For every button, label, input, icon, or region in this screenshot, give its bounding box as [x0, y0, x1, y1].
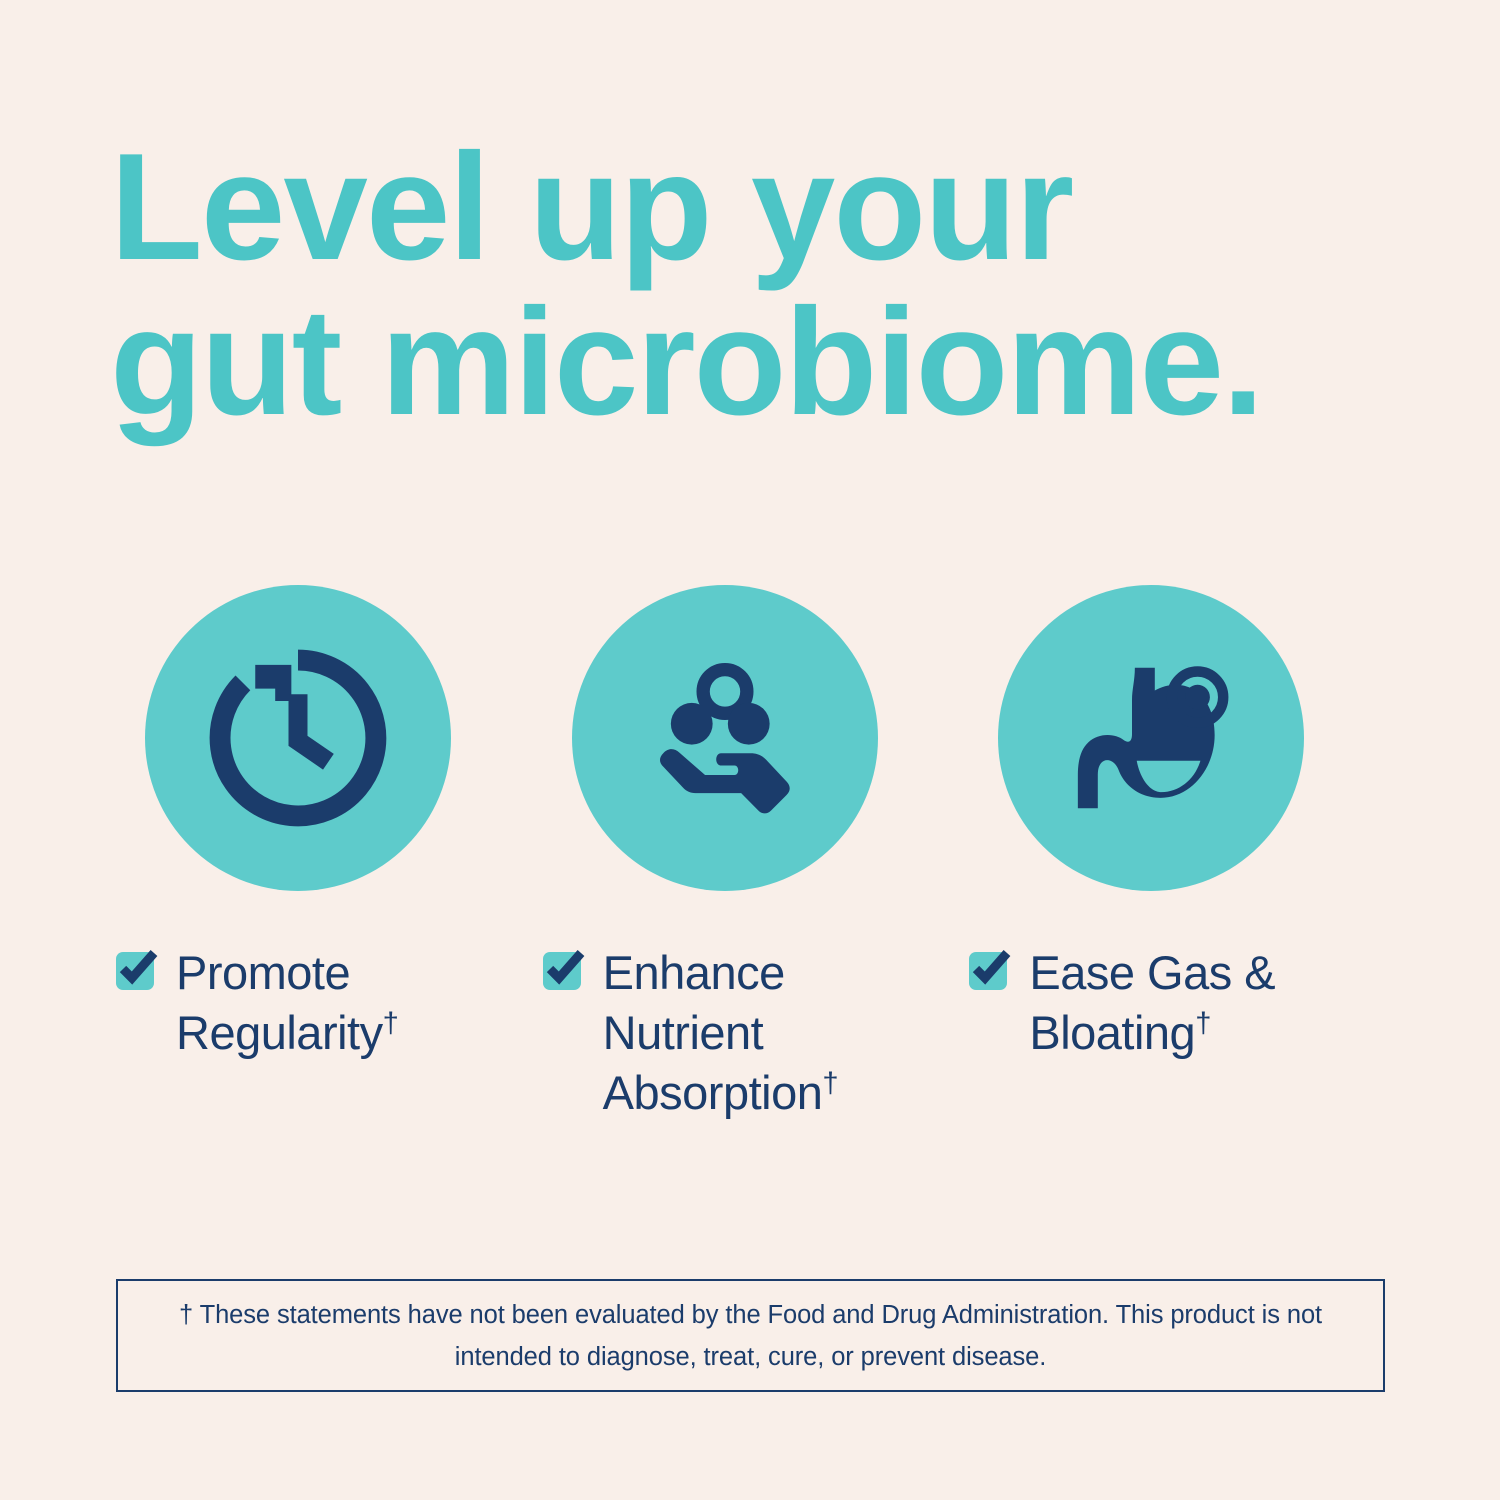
- benefit-label-text: Promote Regularity: [176, 946, 383, 1059]
- dagger-symbol: †: [383, 1007, 399, 1039]
- benefit-check-row: Ease Gas & Bloating†: [969, 943, 1369, 1063]
- benefit-item-promote-regularity: Promote Regularity†: [112, 585, 539, 1063]
- benefit-item-ease-gas-bloating: Ease Gas & Bloating†: [965, 585, 1392, 1063]
- benefit-label-enhance-nutrient-absorption: Enhance Nutrient Absorption†: [603, 943, 943, 1123]
- icon-badge-promote-regularity: [145, 585, 451, 891]
- disclaimer-box: † These statements have not been evaluat…: [116, 1279, 1385, 1392]
- benefit-check-row: Promote Regularity†: [116, 943, 516, 1063]
- icon-badge-enhance-nutrient-absorption: [572, 585, 878, 891]
- checkbox-enhance-nutrient-absorption[interactable]: [543, 952, 581, 990]
- stomach-bubble-icon: [1056, 643, 1246, 833]
- clock-restore-icon: [203, 643, 393, 833]
- benefit-label-text: Enhance Nutrient Absorption: [603, 946, 823, 1119]
- benefits-row: Promote Regularity† Enhance Nutrien: [112, 585, 1392, 1123]
- hand-nutrients-icon: [630, 643, 820, 833]
- dagger-symbol: †: [822, 1067, 838, 1099]
- checkmark-icon: [114, 944, 162, 992]
- headline-line-2: gut microbiome.: [110, 285, 1440, 440]
- benefit-label-text: Ease Gas & Bloating: [1029, 946, 1275, 1059]
- checkbox-ease-gas-bloating[interactable]: [969, 952, 1007, 990]
- checkmark-icon: [541, 944, 589, 992]
- page-headline: Level up your gut microbiome.: [110, 130, 1440, 440]
- dagger-symbol: †: [1195, 1007, 1211, 1039]
- benefit-item-enhance-nutrient-absorption: Enhance Nutrient Absorption†: [539, 585, 966, 1123]
- checkbox-promote-regularity[interactable]: [116, 952, 154, 990]
- icon-badge-ease-gas-bloating: [998, 585, 1304, 891]
- benefit-label-promote-regularity: Promote Regularity†: [176, 943, 516, 1063]
- headline-line-1: Level up your: [110, 130, 1440, 285]
- benefit-check-row: Enhance Nutrient Absorption†: [543, 943, 943, 1123]
- checkmark-icon: [967, 944, 1015, 992]
- disclaimer-text: † These statements have not been evaluat…: [158, 1294, 1343, 1378]
- benefit-label-ease-gas-bloating: Ease Gas & Bloating†: [1029, 943, 1369, 1063]
